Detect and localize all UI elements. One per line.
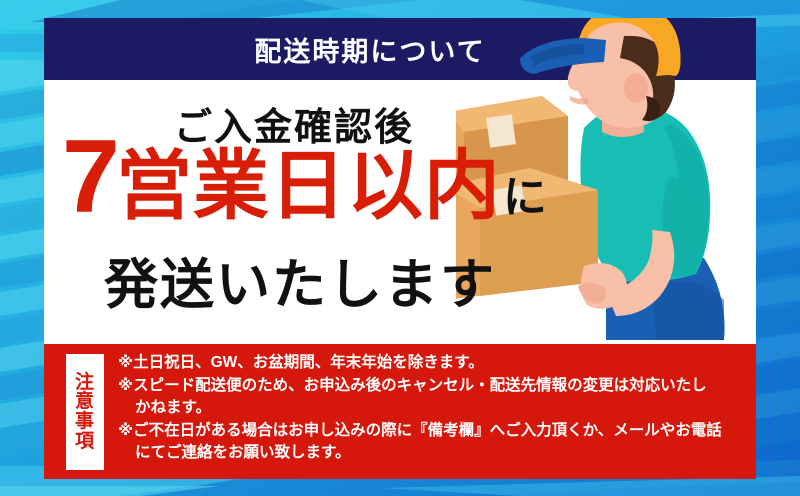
notice-tab-char-0: 注 [75,373,95,393]
notice-tab-char-3: 項 [75,432,95,452]
notice-marker-2: ※ [118,422,133,439]
notice-item-2-text: ※ご不在日がある場合はお申し込みの際に『備考欄』へご入力頂くか、メールやお電話 [118,422,722,439]
headline-number: 7 [62,132,116,224]
notice-item: ※ご不在日がある場合はお申し込みの際に『備考欄』へご入力頂くか、メールやお電話 … [118,420,748,464]
headline-main-line: 7 営業日以内 に [62,132,547,224]
notice-text-2-cont: にてご連絡をお願い致します。 [118,442,748,464]
notice-panel: 注 意 事 項 ※土日祝日、GW、お盆期間、年末年始を除きます。 ※スピード配送… [44,344,756,479]
notice-item-0-text: ※土日祝日、GW、お盆期間、年末年始を除きます。 [118,354,484,371]
headline-action-line: 発送いたします [104,240,496,319]
notice-tab-label: 注 意 事 項 [66,354,104,470]
content-card: 配送時期について [44,18,756,479]
headline-particle: に [501,176,547,224]
notice-text-0: 土日祝日、GW、お盆期間、年末年始を除きます。 [133,354,484,371]
notice-marker-1: ※ [118,377,133,394]
notice-text-1-cont: かねます。 [118,397,748,419]
notice-tab-char-2: 事 [75,412,95,432]
notice-item-list: ※土日祝日、GW、お盆期間、年末年始を除きます。 ※スピード配送便のため、お申込… [118,352,748,465]
notice-item: ※スピード配送便のため、お申込み後のキャンセル・配送先情報の変更は対応いたし か… [118,375,748,419]
headline-emphasis: 営業日以内 [116,151,501,223]
banner-root: 配送時期について [0,0,800,496]
notice-item: ※土日祝日、GW、お盆期間、年末年始を除きます。 [118,352,748,374]
notice-text-1: スピード配送便のため、お申込み後のキャンセル・配送先情報の変更は対応いたし [133,377,707,394]
notice-text-2: ご不在日がある場合はお申し込みの際に『備考欄』へご入力頂くか、メールやお電話 [133,422,722,439]
headline-block: ご入金確認後 7 営業日以内 に 発送いたします [44,80,756,325]
notice-tab-char-1: 意 [75,392,95,412]
header-title: 配送時期について [44,18,756,80]
notice-item-1-text: ※スピード配送便のため、お申込み後のキャンセル・配送先情報の変更は対応いたし [118,377,707,394]
notice-marker-0: ※ [118,354,133,371]
